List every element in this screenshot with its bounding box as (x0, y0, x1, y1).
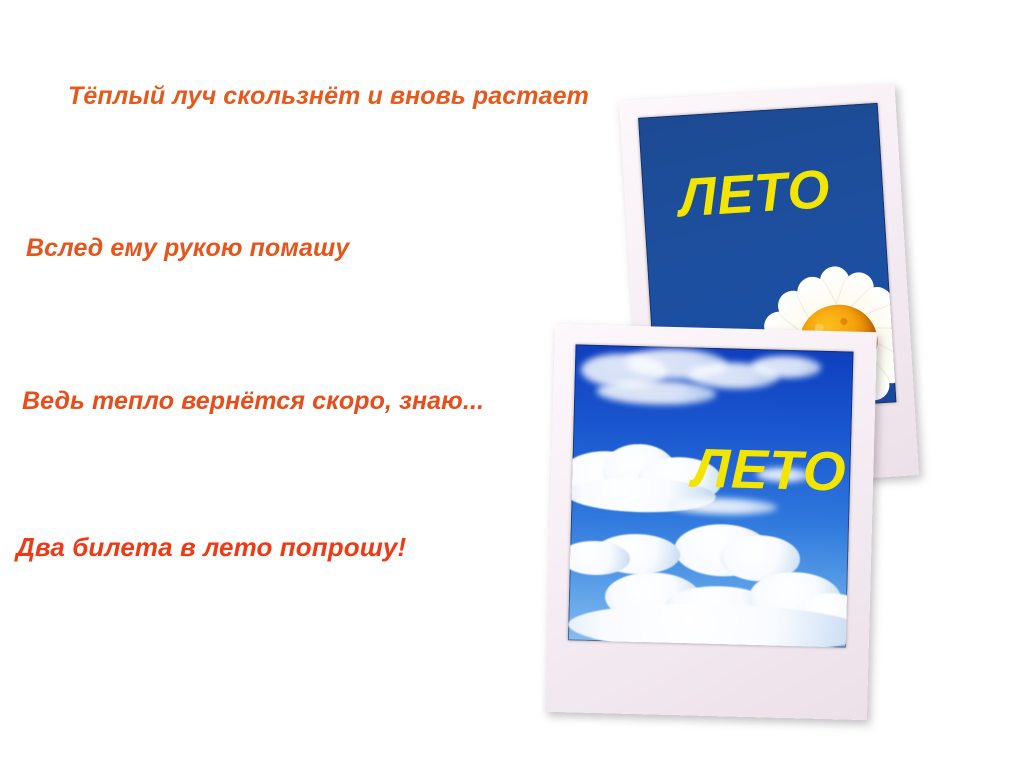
photo-image-clouds: ЛЕТО (568, 344, 854, 647)
poem-line-2: Вслед ему рукою помашу (26, 234, 349, 263)
photo-caption-leto-top: ЛЕТО (677, 158, 832, 229)
photo-caption-leto-bottom: ЛЕТО (692, 436, 848, 504)
polaroid-photo-clouds[interactable]: ЛЕТО (545, 324, 877, 720)
poem-line-3: Ведь тепло вернётся скоро, знаю... (22, 387, 484, 416)
slide-canvas: Тёплый луч скользнёт и вновь растает Всл… (0, 0, 1024, 768)
poem-line-4: Два билета в лето попрошу! (16, 532, 406, 563)
poem-line-1: Тёплый луч скользнёт и вновь растает (68, 82, 589, 111)
